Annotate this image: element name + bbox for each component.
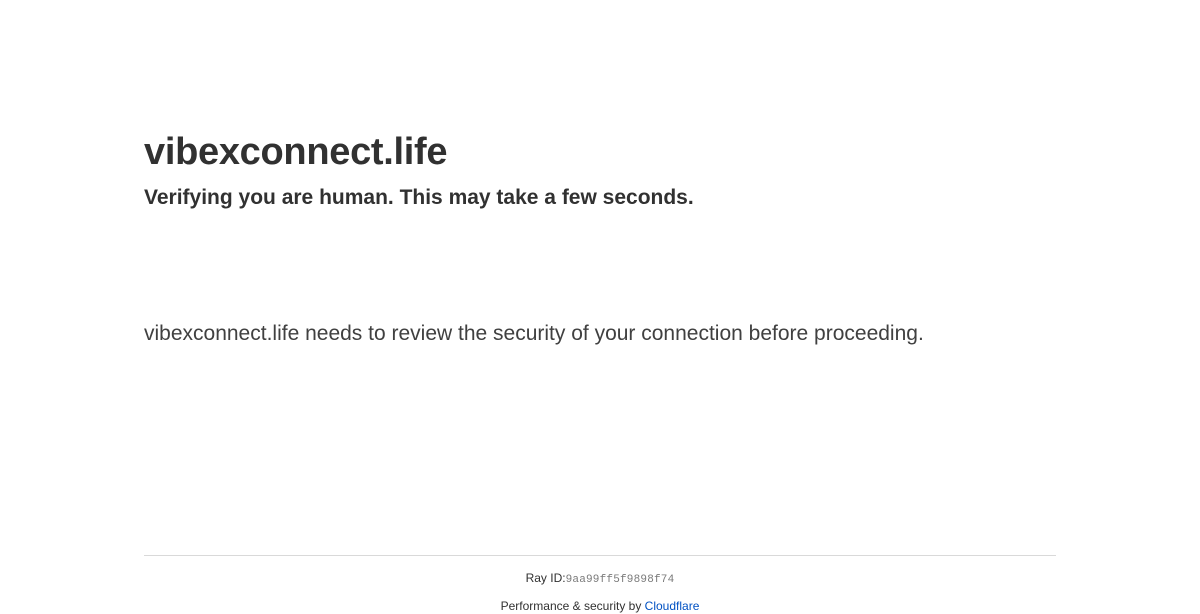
security-review-message: vibexconnect.life needs to review the se…: [144, 312, 944, 352]
verification-status-text: Verifying you are human. This may take a…: [144, 174, 1056, 212]
ray-id-value: 9aa99ff5f9898f74: [566, 574, 675, 586]
page-footer: Ray ID:9aa99ff5f9898f74 Performance & se…: [144, 556, 1056, 614]
challenge-page: vibexconnect.life Verifying you are huma…: [0, 0, 1200, 600]
attribution-line: Performance & security by Cloudflare: [144, 588, 1056, 614]
main-section: vibexconnect.life Verifying you are huma…: [144, 0, 1056, 352]
page-content: vibexconnect.life Verifying you are huma…: [144, 0, 1056, 352]
attribution-prefix: Performance & security by: [501, 599, 642, 613]
ray-id-label: Ray ID:: [526, 571, 566, 585]
page-title: vibexconnect.life: [144, 130, 1056, 174]
challenge-widget-container[interactable]: [144, 220, 544, 312]
cloudflare-link[interactable]: Cloudflare: [645, 599, 700, 613]
ray-id-line: Ray ID:9aa99ff5f9898f74: [144, 556, 1056, 588]
